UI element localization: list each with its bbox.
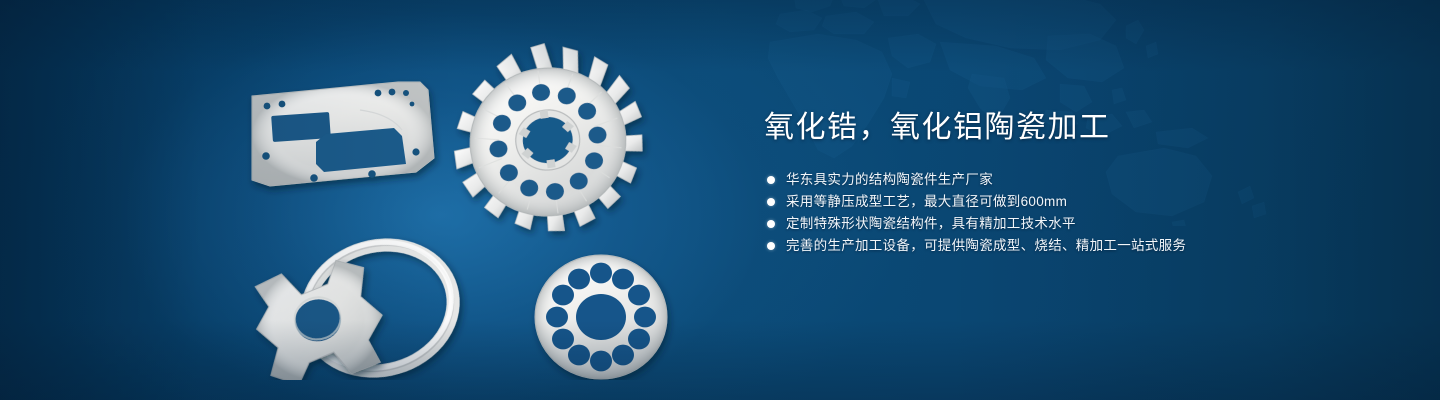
- feature-item-4: 完善的生产加工设备，可提供陶瓷成型、烧结、精加工一站式服务: [764, 238, 1384, 253]
- feature-item-3-label: 定制特殊形状陶瓷结构件，具有精加工技术水平: [786, 216, 1076, 231]
- feature-item-1-label: 华东具实力的结构陶瓷件生产厂家: [786, 172, 993, 187]
- bullet-dot-icon: [767, 220, 775, 228]
- feature-item-1: 华东具实力的结构陶瓷件生产厂家: [764, 172, 1384, 187]
- banner-feature-list: 华东具实力的结构陶瓷件生产厂家 采用等静压成型工艺，最大直径可做到600mm 定…: [764, 172, 1384, 253]
- bullet-dot-icon: [767, 176, 775, 184]
- banner-copy: 氧化锆，氧化铝陶瓷加工 华东具实力的结构陶瓷件生产厂家 采用等静压成型工艺，最大…: [764, 108, 1384, 260]
- feature-item-2: 采用等静压成型工艺，最大直径可做到600mm: [764, 194, 1384, 209]
- bullet-dot-icon: [767, 242, 775, 250]
- feature-item-3: 定制特殊形状陶瓷结构件，具有精加工技术水平: [764, 216, 1384, 231]
- bullet-dot-icon: [767, 198, 775, 206]
- banner-headline: 氧化锆，氧化铝陶瓷加工: [764, 108, 1384, 148]
- feature-item-2-label: 采用等静压成型工艺，最大直径可做到600mm: [786, 194, 1067, 209]
- feature-item-4-label: 完善的生产加工设备，可提供陶瓷成型、烧结、精加工一站式服务: [786, 238, 1186, 253]
- hero-banner: 氧化锆，氧化铝陶瓷加工 华东具实力的结构陶瓷件生产厂家 采用等静压成型工艺，最大…: [0, 0, 1440, 400]
